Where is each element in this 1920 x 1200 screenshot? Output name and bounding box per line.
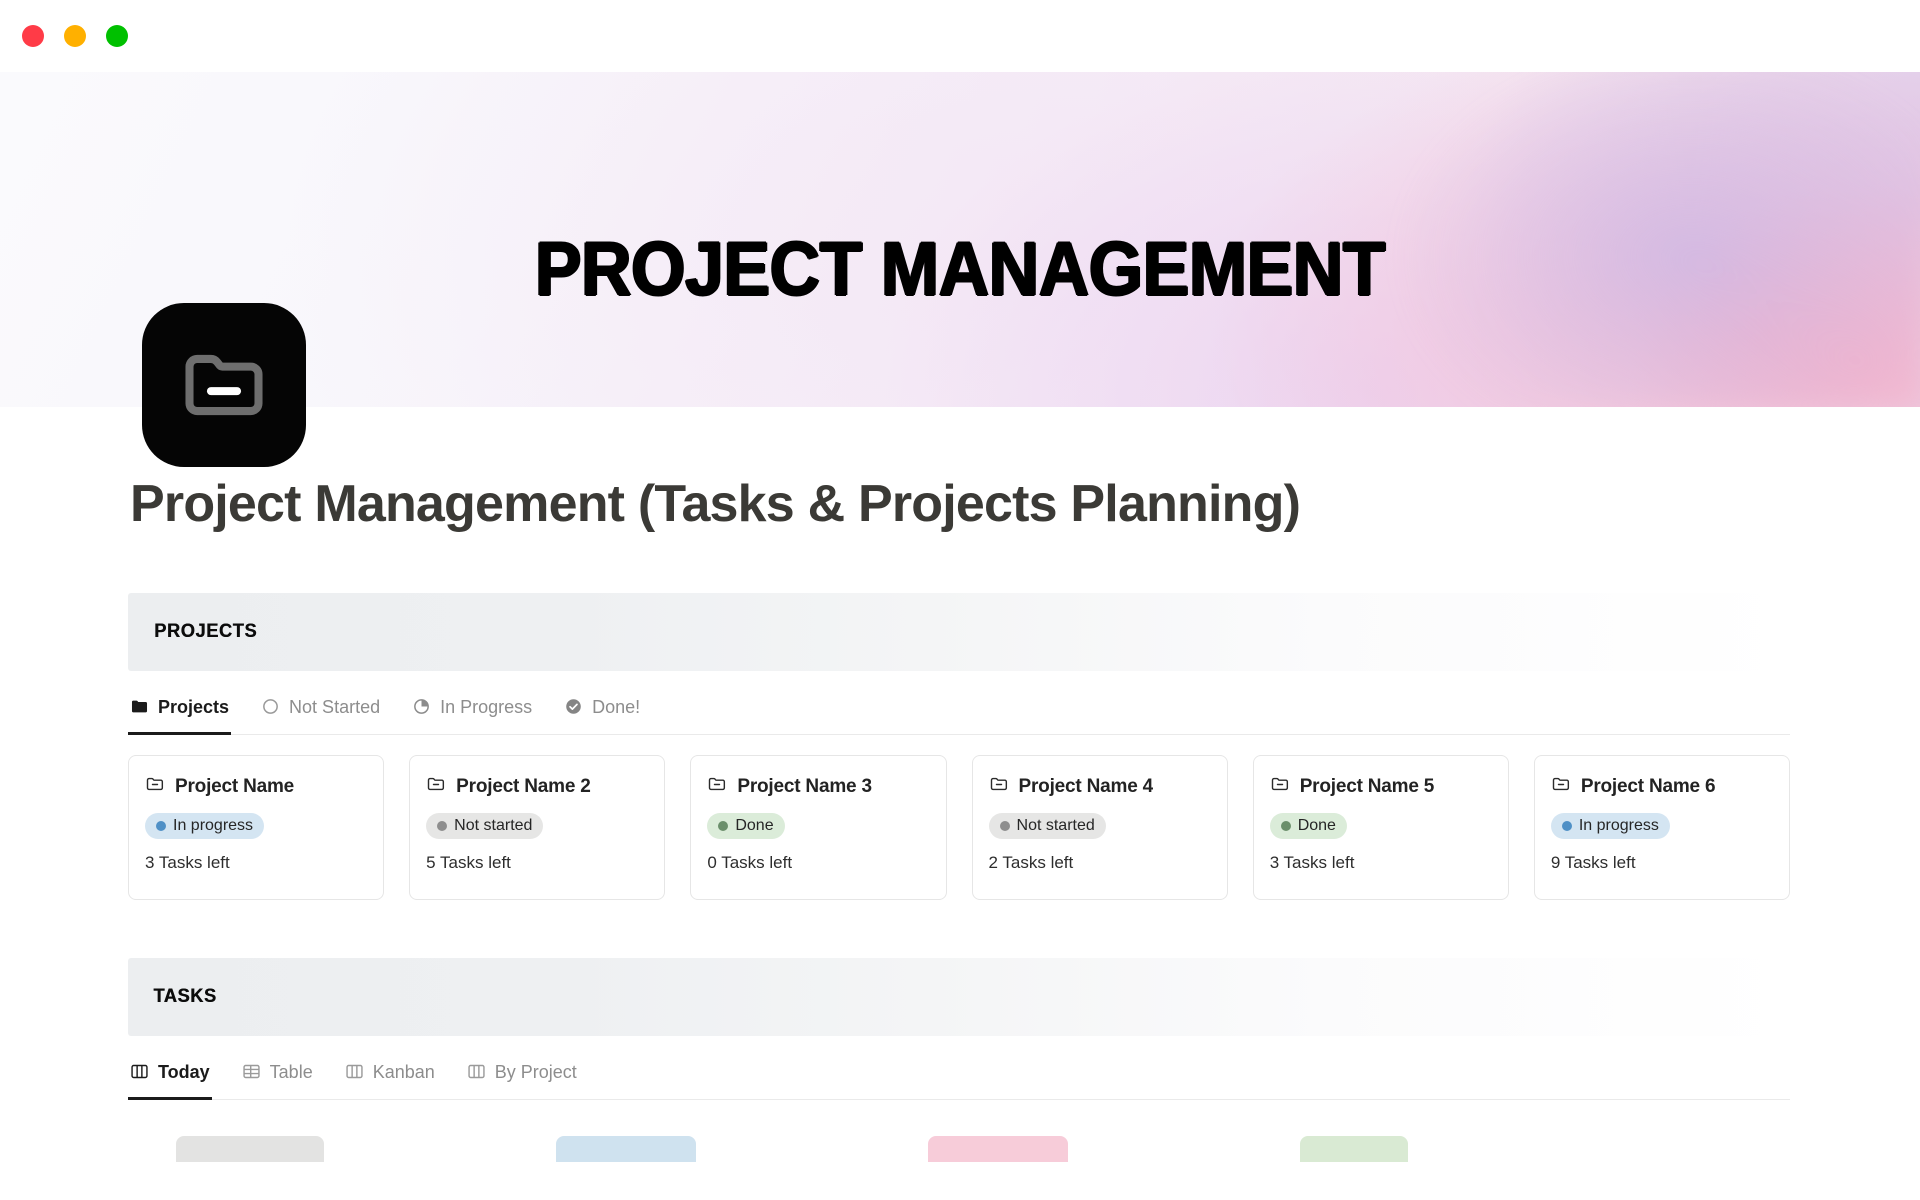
- page-title: Project Management (Tasks & Projects Pla…: [0, 473, 1920, 535]
- status-badge: Done: [707, 813, 784, 839]
- tasks-tabbar: Today Table Kanban: [128, 1056, 1790, 1100]
- project-card[interactable]: Project Name 5 Done 3 Tasks left: [1253, 755, 1509, 900]
- minimize-window-button[interactable]: [64, 25, 86, 47]
- page-content: Project Management (Tasks & Projects Pla…: [0, 473, 1920, 1162]
- project-card[interactable]: Project Name In progress 3 Tasks left: [128, 755, 384, 900]
- kanban-column-header[interactable]: [1300, 1136, 1408, 1162]
- tasks-section-banner: TASKS: [128, 958, 1790, 1036]
- status-badge-label: Done: [1298, 817, 1336, 835]
- status-badge: Not started: [426, 813, 543, 839]
- projects-section: PROJECTS Projects Not Started: [0, 593, 1920, 900]
- tasks-left-label: 0 Tasks left: [707, 853, 929, 873]
- status-badge: Done: [1270, 813, 1347, 839]
- status-badge: In progress: [145, 813, 264, 839]
- tasks-left-label: 3 Tasks left: [145, 853, 367, 873]
- status-badge: In progress: [1551, 813, 1670, 839]
- project-card-header: Project Name 2: [426, 774, 648, 799]
- folder-outline-icon: [989, 774, 1009, 799]
- project-card[interactable]: Project Name 2 Not started 5 Tasks left: [409, 755, 665, 900]
- status-badge-label: In progress: [1579, 817, 1659, 835]
- window-titlebar: [0, 0, 1920, 72]
- status-badge-label: Done: [735, 817, 773, 835]
- kanban-board-strip: [128, 1122, 1790, 1162]
- tab-kanban[interactable]: Kanban: [343, 1057, 437, 1100]
- projects-section-label: PROJECTS: [154, 621, 257, 643]
- project-card-title: Project Name 2: [456, 776, 591, 798]
- tab-by-project-label: By Project: [495, 1063, 577, 1081]
- project-card[interactable]: Project Name 3 Done 0 Tasks left: [690, 755, 946, 900]
- tab-projects-label: Projects: [158, 698, 229, 716]
- project-card-header: Project Name 4: [989, 774, 1211, 799]
- folder-filled-icon: [130, 697, 149, 716]
- tab-done-label: Done!: [592, 698, 640, 716]
- board-icon: [345, 1062, 364, 1081]
- tasks-left-label: 9 Tasks left: [1551, 853, 1773, 873]
- tasks-left-label: 2 Tasks left: [989, 853, 1211, 873]
- traffic-light-controls: [22, 25, 128, 47]
- project-card-header: Project Name: [145, 774, 367, 799]
- folder-outline-icon: [707, 774, 727, 799]
- tab-in-progress[interactable]: In Progress: [410, 692, 534, 735]
- tab-table-label: Table: [270, 1063, 313, 1081]
- kanban-column-header[interactable]: [556, 1136, 696, 1162]
- kanban-column-header[interactable]: [176, 1136, 324, 1162]
- project-card-header: Project Name 5: [1270, 774, 1492, 799]
- tab-not-started-label: Not Started: [289, 698, 380, 716]
- projects-tabbar: Projects Not Started In Progress: [128, 691, 1790, 735]
- project-card-title: Project Name 6: [1581, 776, 1716, 798]
- circle-outline-icon: [261, 697, 280, 716]
- tab-done[interactable]: Done!: [562, 692, 642, 735]
- status-badge-label: Not started: [454, 817, 532, 835]
- tab-by-project[interactable]: By Project: [465, 1057, 579, 1100]
- board-icon: [467, 1062, 486, 1081]
- project-card-title: Project Name 5: [1300, 776, 1435, 798]
- folder-outline-icon: [1270, 774, 1290, 799]
- project-cards-list: Project Name In progress 3 Tasks left: [128, 755, 1790, 900]
- status-badge: Not started: [989, 813, 1106, 839]
- tasks-section: TASKS Today Table: [0, 958, 1920, 1162]
- project-card-header: Project Name 3: [707, 774, 929, 799]
- projects-section-banner: PROJECTS: [128, 593, 1790, 671]
- tasks-left-label: 3 Tasks left: [1270, 853, 1492, 873]
- check-circle-icon: [564, 697, 583, 716]
- folder-minus-icon: [142, 303, 306, 467]
- status-badge-label: Not started: [1017, 817, 1095, 835]
- tab-not-started[interactable]: Not Started: [259, 692, 382, 735]
- banner-title: PROJECT MANAGEMENT: [77, 232, 1843, 308]
- tab-today[interactable]: Today: [128, 1057, 212, 1100]
- project-card[interactable]: Project Name 4 Not started 2 Tasks left: [972, 755, 1228, 900]
- status-dot-icon: [1000, 821, 1010, 831]
- tab-table[interactable]: Table: [240, 1057, 315, 1100]
- board-icon: [130, 1062, 149, 1081]
- tab-projects[interactable]: Projects: [128, 692, 231, 735]
- project-card-title: Project Name 3: [737, 776, 872, 798]
- project-card[interactable]: Project Name 6 In progress 9 Tasks left: [1534, 755, 1790, 900]
- project-card-title: Project Name 4: [1019, 776, 1154, 798]
- tasks-section-label: TASKS: [153, 986, 216, 1008]
- project-card-title: Project Name: [175, 776, 294, 798]
- page-icon-wrapper[interactable]: [142, 303, 306, 467]
- project-card-header: Project Name 6: [1551, 774, 1773, 799]
- maximize-window-button[interactable]: [106, 25, 128, 47]
- status-dot-icon: [437, 821, 447, 831]
- tasks-left-label: 5 Tasks left: [426, 853, 648, 873]
- kanban-column-header[interactable]: [928, 1136, 1068, 1162]
- status-badge-label: In progress: [173, 817, 253, 835]
- tab-in-progress-label: In Progress: [440, 698, 532, 716]
- status-dot-icon: [156, 821, 166, 831]
- tab-today-label: Today: [158, 1063, 210, 1081]
- status-dot-icon: [718, 821, 728, 831]
- pie-clock-icon: [412, 697, 431, 716]
- folder-outline-icon: [426, 774, 446, 799]
- table-icon: [242, 1062, 261, 1081]
- folder-outline-icon: [145, 774, 165, 799]
- status-dot-icon: [1281, 821, 1291, 831]
- tab-kanban-label: Kanban: [373, 1063, 435, 1081]
- folder-outline-icon: [1551, 774, 1571, 799]
- status-dot-icon: [1562, 821, 1572, 831]
- close-window-button[interactable]: [22, 25, 44, 47]
